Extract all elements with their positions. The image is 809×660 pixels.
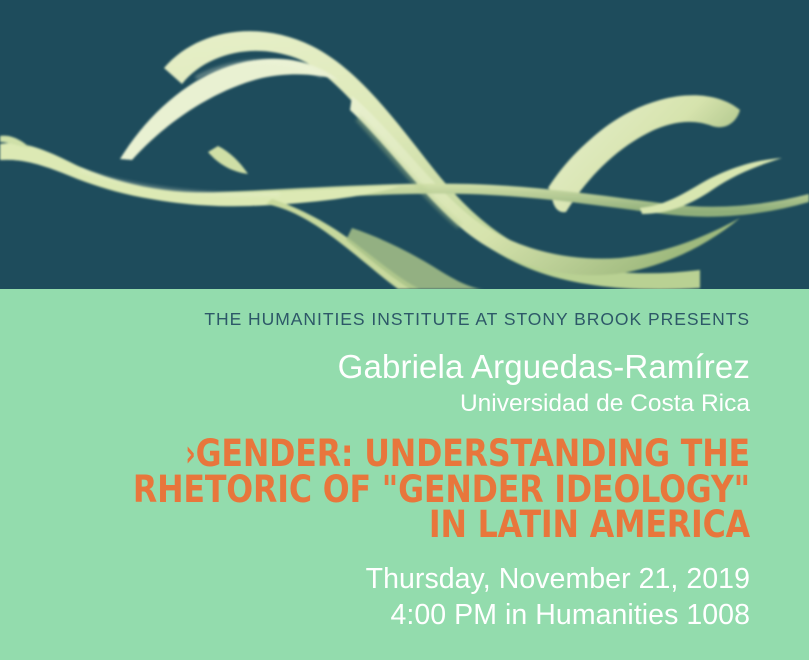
event-poster: THE HUMANITIES INSTITUTE AT STONY BROOK … [0, 0, 809, 660]
chevron-right-icon: › [185, 436, 195, 471]
speaker-name: Gabriela Arguedas-Ramírez [0, 329, 750, 386]
event-date: Thursday, November 21, 2019 [0, 561, 750, 597]
event-time-location: 4:00 PM in Humanities 1008 [0, 597, 750, 633]
poster-content-panel: THE HUMANITIES INSTITUTE AT STONY BROOK … [0, 289, 809, 660]
speaker-affiliation: Universidad de Costa Rica [0, 386, 750, 418]
hero-artwork [0, 0, 809, 289]
event-datetime: Thursday, November 21, 2019 4:00 PM in H… [0, 542, 750, 634]
talk-title: ›GENDER: UNDERSTANDING THE RHETORIC OF "… [109, 418, 750, 541]
hero-artwork-svg [0, 0, 809, 289]
presenter-line: THE HUMANITIES INSTITUTE AT STONY BROOK … [0, 289, 750, 329]
talk-title-line-3: IN LATIN AMERICA [109, 507, 750, 542]
talk-title-line-2: RHETORIC OF "GENDER IDEOLOGY" [109, 472, 750, 507]
talk-title-line-1: ›GENDER: UNDERSTANDING THE [109, 436, 750, 471]
